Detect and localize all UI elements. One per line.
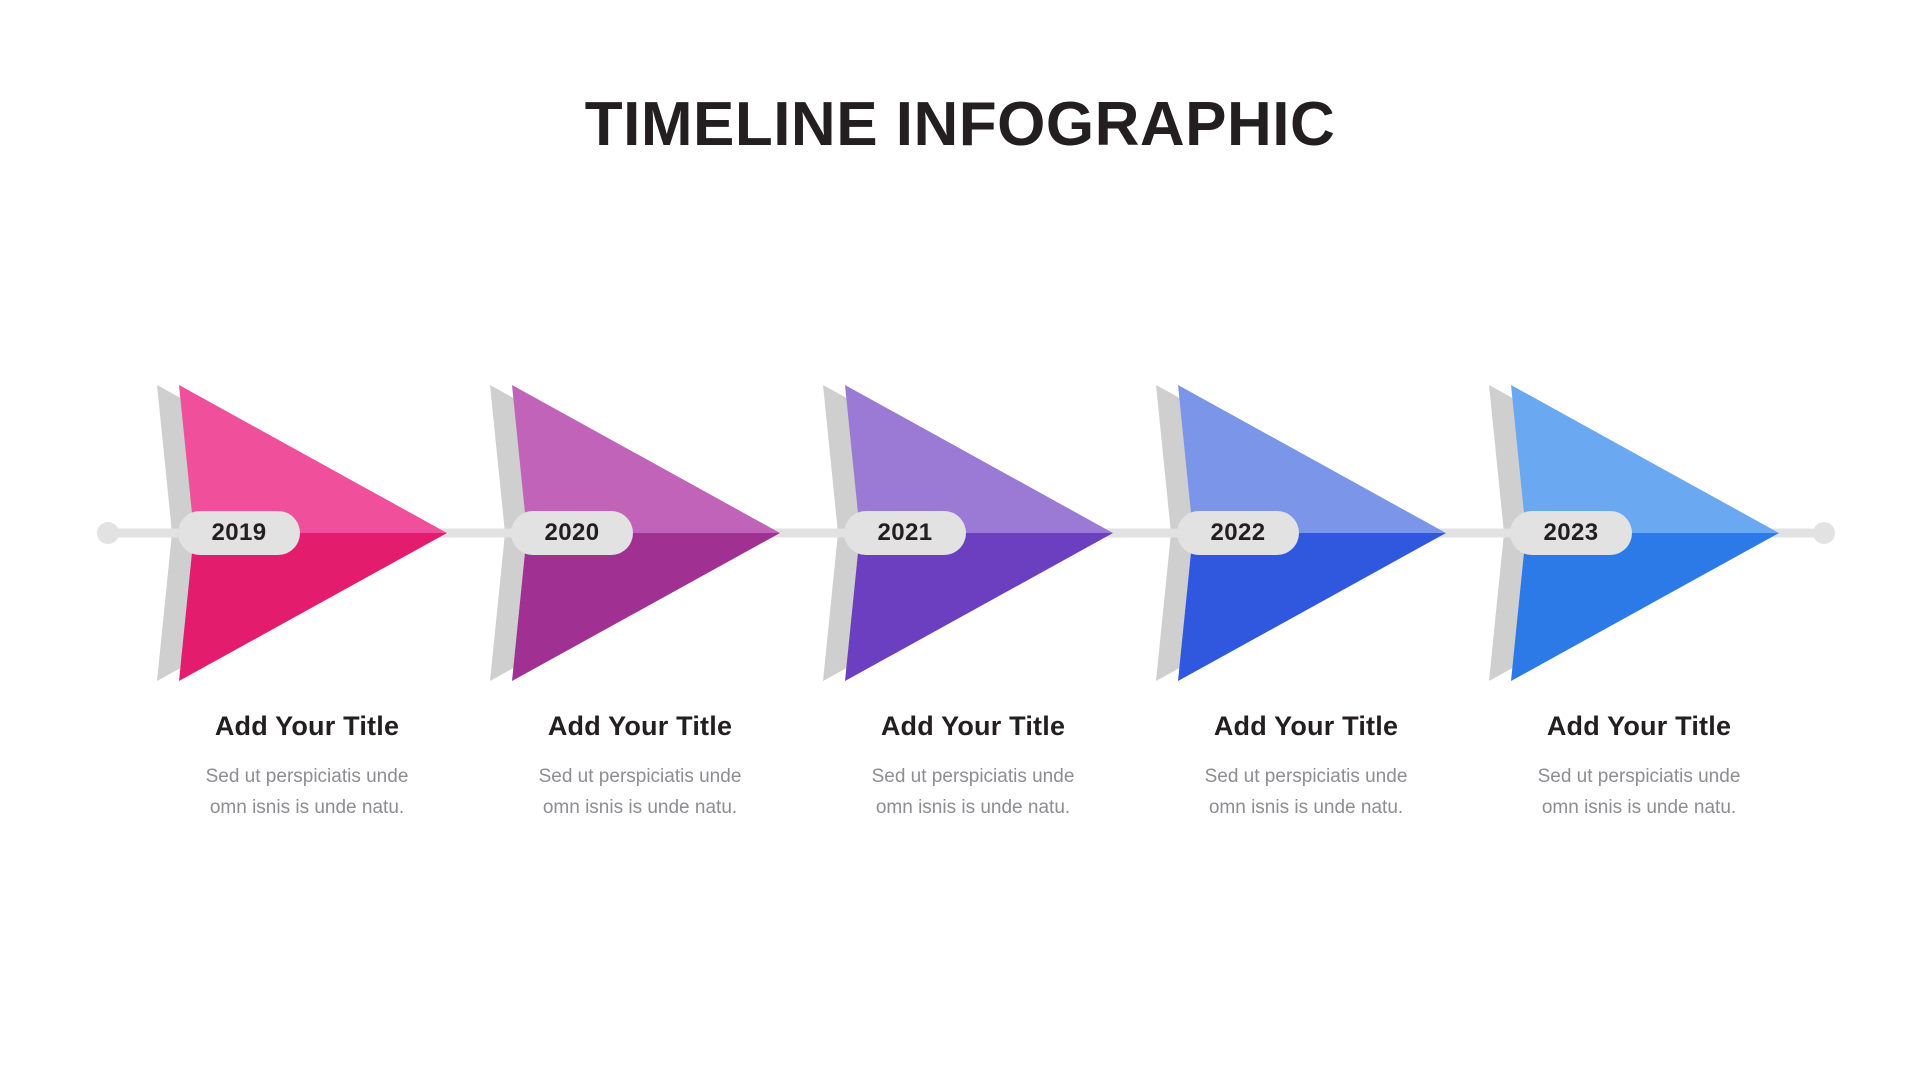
caption-body-line2-2019: omn isnis is unde natu. [157,793,457,824]
arrow-lower-wing-2019[interactable] [179,533,447,681]
caption-body-line1-2020: Sed ut perspiciatis unde [490,762,790,793]
caption-block-2023: Add Your TitleSed ut perspiciatis undeom… [1489,710,1789,824]
caption-block-2019: Add Your TitleSed ut perspiciatis undeom… [157,710,457,824]
caption-body-line2-2023: omn isnis is unde natu. [1489,793,1789,824]
caption-body-line2-2022: omn isnis is unde natu. [1156,793,1456,824]
year-pill-2021[interactable] [844,511,966,555]
arrow-lower-wing-2022[interactable] [1178,533,1446,681]
caption-row: Add Your TitleSed ut perspiciatis undeom… [0,710,1920,910]
arrow-upper-wing-2020[interactable] [512,385,780,533]
caption-body-2019: Sed ut perspiciatis undeomn isnis is und… [157,762,457,824]
caption-block-2021: Add Your TitleSed ut perspiciatis undeom… [823,710,1123,824]
caption-body-2022: Sed ut perspiciatis undeomn isnis is und… [1156,762,1456,824]
arrow-upper-wing-2021[interactable] [845,385,1113,533]
timeline-segment-2021 [1113,529,1178,538]
timeline-segment-2023 [1779,529,1824,538]
arrow-lower-wing-2021[interactable] [845,533,1113,681]
caption-body-line1-2021: Sed ut perspiciatis unde [823,762,1123,793]
caption-title-2022: Add Your Title [1156,710,1456,742]
caption-body-2023: Sed ut perspiciatis undeomn isnis is und… [1489,762,1789,824]
caption-body-2021: Sed ut perspiciatis undeomn isnis is und… [823,762,1123,824]
caption-body-line1-2023: Sed ut perspiciatis unde [1489,762,1789,793]
caption-body-line1-2022: Sed ut perspiciatis unde [1156,762,1456,793]
caption-body-line2-2021: omn isnis is unde natu. [823,793,1123,824]
caption-body-line1-2019: Sed ut perspiciatis unde [157,762,457,793]
caption-block-2022: Add Your TitleSed ut perspiciatis undeom… [1156,710,1456,824]
year-pill-2019[interactable] [178,511,300,555]
caption-body-line2-2020: omn isnis is unde natu. [490,793,790,824]
caption-block-2020: Add Your TitleSed ut perspiciatis undeom… [490,710,790,824]
year-pill-2023[interactable] [1510,511,1632,555]
caption-title-2023: Add Your Title [1489,710,1789,742]
caption-title-2019: Add Your Title [157,710,457,742]
timeline-graphic: 20192020202120222023 [0,0,1920,1080]
arrow-upper-wing-2019[interactable] [179,385,447,533]
arrow-lower-wing-2023[interactable] [1511,533,1779,681]
timeline-segment-2019 [447,529,512,538]
timeline-segment-2022 [1446,529,1511,538]
arrow-upper-wing-2022[interactable] [1178,385,1446,533]
timeline-segment-lead [108,529,178,538]
caption-title-2021: Add Your Title [823,710,1123,742]
arrow-lower-wing-2020[interactable] [512,533,780,681]
arrow-upper-wing-2023[interactable] [1511,385,1779,533]
timeline-segment-2020 [780,529,845,538]
year-pill-2020[interactable] [511,511,633,555]
infographic-page: TIMELINE INFOGRAPHIC 2019202020212022202… [0,0,1920,1080]
year-pill-2022[interactable] [1177,511,1299,555]
caption-body-2020: Sed ut perspiciatis undeomn isnis is und… [490,762,790,824]
timeline-svg [0,0,1920,1080]
caption-title-2020: Add Your Title [490,710,790,742]
